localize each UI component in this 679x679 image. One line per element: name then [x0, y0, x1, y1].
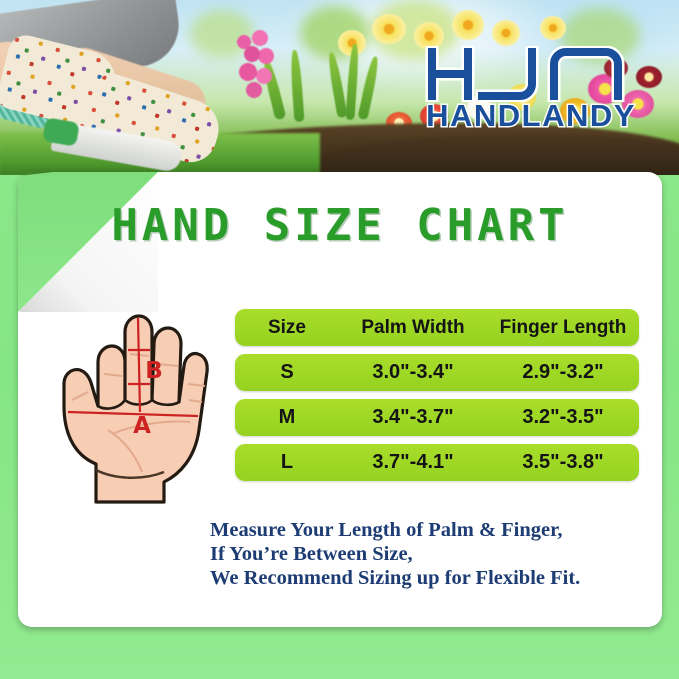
column-header-palm-width: Palm Width — [339, 317, 487, 339]
column-header-finger-length: Finger Length — [487, 317, 639, 339]
sizing-note-line-1: Measure Your Length of Palm & Finger, — [210, 518, 650, 542]
sizing-note: Measure Your Length of Palm & Finger, If… — [210, 518, 650, 590]
hand-size-chart-page: HANDLANDY HAND SIZE CHART — [0, 0, 679, 679]
hld-monogram-icon — [424, 46, 638, 102]
table-row: M 3.4"-3.7" 3.2"-3.5" — [235, 399, 639, 436]
sizing-note-line-3: We Recommend Sizing up for Flexible Fit. — [210, 566, 650, 590]
table-row: L 3.7"-4.1" 3.5"-3.8" — [235, 444, 639, 481]
page-title: HAND SIZE CHART — [18, 200, 662, 251]
cell-palm-width: 3.7"-4.1" — [339, 451, 487, 474]
hyacinth-flower — [226, 28, 288, 108]
cell-size: M — [235, 406, 339, 429]
cell-size: S — [235, 361, 339, 384]
daffodil-flower — [540, 16, 566, 40]
daffodil-flower — [372, 14, 406, 44]
daffodil-flower — [492, 20, 520, 46]
table-header-row: Size Palm Width Finger Length — [235, 309, 639, 346]
hand-silhouette — [64, 316, 207, 502]
table-row: S 3.0"-3.4" 2.9"-3.2" — [235, 354, 639, 391]
primrose-flower — [636, 66, 662, 88]
size-table: Size Palm Width Finger Length S 3.0"-3.4… — [235, 309, 639, 481]
gardening-photo-banner: HANDLANDY — [0, 0, 679, 175]
measure-label-b: B — [145, 358, 163, 384]
daffodil-flower — [452, 10, 484, 40]
cell-size: L — [235, 451, 339, 474]
handlandy-logo: HANDLANDY — [424, 46, 638, 134]
cell-finger-length: 3.5"-3.8" — [487, 451, 639, 474]
cell-finger-length: 2.9"-3.2" — [487, 361, 639, 384]
cell-palm-width: 3.0"-3.4" — [339, 361, 487, 384]
brand-wordmark: HANDLANDY — [424, 98, 638, 134]
cell-palm-width: 3.4"-3.7" — [339, 406, 487, 429]
cell-finger-length: 3.2"-3.5" — [487, 406, 639, 429]
column-header-size: Size — [235, 317, 339, 339]
hand-measurement-diagram: A B — [38, 288, 224, 510]
measure-label-a: A — [133, 413, 151, 439]
sizing-note-line-2: If You’re Between Size, — [210, 542, 650, 566]
